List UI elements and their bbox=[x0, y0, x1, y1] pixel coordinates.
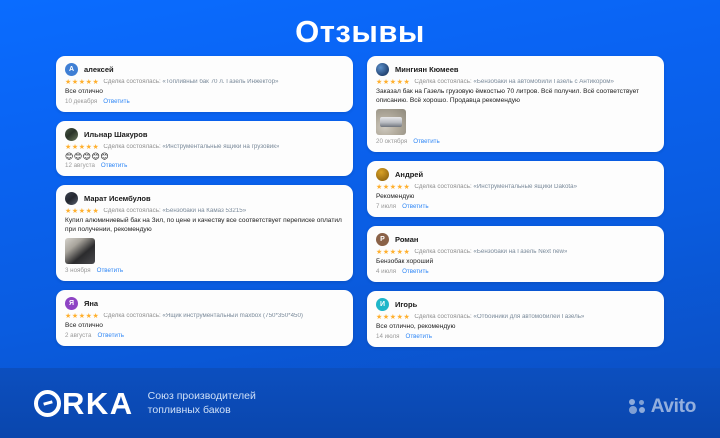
review-author[interactable]: Марат Исембулов bbox=[84, 195, 151, 203]
deal-item[interactable]: «Инструментальные ящики Dakota» bbox=[473, 184, 577, 190]
emoji-reactions: 😊😊😊😊😊 bbox=[65, 153, 344, 161]
review-header: ЯЯна bbox=[65, 297, 344, 310]
reply-link[interactable]: Ответить bbox=[101, 163, 127, 169]
brand-tagline: Союз производителей топливных баков bbox=[148, 389, 256, 417]
review-footer: 3 ноябряОтветить bbox=[65, 268, 344, 274]
review-author[interactable]: алексей bbox=[84, 66, 114, 74]
review-text: Купил алюминиевый бак на Зил, по цене и … bbox=[65, 217, 344, 235]
reply-link[interactable]: Ответить bbox=[103, 99, 129, 105]
deal-prefix: Сделка состоялась: bbox=[414, 184, 471, 190]
deal-line: Сделка состоялась: «Ящик инструментальны… bbox=[103, 313, 303, 320]
rating-stars: ★★★★★ bbox=[65, 144, 99, 151]
review-meta: ★★★★★Сделка состоялась: «Бензобаки на Ка… bbox=[65, 208, 344, 215]
review-footer: 14 июляОтветить bbox=[376, 334, 655, 340]
review-author[interactable]: Ильнар Шакуров bbox=[84, 131, 147, 139]
avatar[interactable]: Я bbox=[65, 297, 78, 310]
review-date: 7 июля bbox=[376, 204, 396, 210]
orka-logo-text: RKA bbox=[62, 388, 134, 419]
reply-link[interactable]: Ответить bbox=[97, 333, 123, 339]
review-author[interactable]: Андрей bbox=[395, 171, 423, 179]
review-footer: 7 июляОтветить bbox=[376, 204, 655, 210]
review-date: 3 ноября bbox=[65, 268, 91, 274]
deal-line: Сделка состоялась: «Бензобаки на Камаз 5… bbox=[103, 208, 246, 215]
avatar[interactable] bbox=[65, 192, 78, 205]
rating-stars: ★★★★★ bbox=[65, 208, 99, 215]
deal-prefix: Сделка состоялась: bbox=[103, 79, 160, 85]
review-footer: 4 июляОтветить bbox=[376, 269, 655, 275]
deal-prefix: Сделка состоялась: bbox=[103, 208, 160, 214]
review-date: 20 октября bbox=[376, 139, 407, 145]
deal-prefix: Сделка состоялась: bbox=[414, 314, 471, 320]
brand-lockup: RKA Союз производителей топливных баков bbox=[0, 388, 256, 419]
review-card: Андрей★★★★★Сделка состоялась: «Инструмен… bbox=[367, 161, 664, 217]
deal-prefix: Сделка состоялась: bbox=[414, 249, 471, 255]
rating-stars: ★★★★★ bbox=[376, 79, 410, 86]
deal-prefix: Сделка состоялась: bbox=[103, 144, 160, 150]
deal-item[interactable]: «Бензобаки на Камаз 53215» bbox=[162, 208, 246, 214]
review-photo-thumbnail[interactable] bbox=[376, 109, 406, 135]
review-text: Бензобак хороший bbox=[376, 258, 655, 267]
deal-line: Сделка состоялась: «Инструментальные ящи… bbox=[103, 144, 279, 151]
review-text: Все отлично, рекомендую bbox=[376, 323, 655, 332]
deal-line: Сделка состоялась: «Бензобаки на Газель … bbox=[414, 249, 567, 256]
reply-link[interactable]: Ответить bbox=[413, 139, 439, 145]
review-author[interactable]: Яна bbox=[84, 300, 98, 308]
brand-tagline-line2: топливных баков bbox=[148, 403, 256, 417]
deal-item[interactable]: «Отбойники для автомобилей Газель» bbox=[473, 314, 584, 320]
reply-link[interactable]: Ответить bbox=[402, 269, 428, 275]
review-date: 4 июля bbox=[376, 269, 396, 275]
orka-o-icon bbox=[34, 390, 61, 417]
avatar[interactable] bbox=[65, 128, 78, 141]
deal-line: Сделка состоялась: «Отбойники для автомо… bbox=[414, 314, 584, 321]
avatar[interactable] bbox=[376, 63, 389, 76]
review-date: 12 августа bbox=[65, 163, 95, 169]
review-meta: ★★★★★Сделка состоялась: «Инструментальны… bbox=[65, 144, 344, 151]
reviews-poster: Отзывы Aалексей★★★★★Сделка состоялась: «… bbox=[0, 0, 720, 438]
review-text: Все отлично bbox=[65, 322, 344, 331]
review-meta: ★★★★★Сделка состоялась: «Ящик инструмент… bbox=[65, 313, 344, 320]
review-photo-thumbnail[interactable] bbox=[65, 238, 95, 264]
deal-line: Сделка состоялась: «Инструментальные ящи… bbox=[414, 184, 577, 191]
review-header: Мингиян Кюмеев bbox=[376, 63, 655, 76]
review-card: Марат Исембулов★★★★★Сделка состоялась: «… bbox=[56, 185, 353, 281]
deal-item[interactable]: «Бензобаки на автомобили Газель с Антико… bbox=[473, 79, 614, 85]
avatar[interactable]: Р bbox=[376, 233, 389, 246]
review-text: Рекомендую bbox=[376, 193, 655, 202]
review-footer: 12 августаОтветить bbox=[65, 163, 344, 169]
review-author[interactable]: Мингиян Кюмеев bbox=[395, 66, 459, 74]
review-author[interactable]: Роман bbox=[395, 236, 418, 244]
reply-link[interactable]: Ответить bbox=[406, 334, 432, 340]
brand-tagline-line1: Союз производителей bbox=[148, 389, 256, 403]
rating-stars: ★★★★★ bbox=[376, 184, 410, 191]
review-meta: ★★★★★Сделка состоялась: «Инструментальны… bbox=[376, 184, 655, 191]
avatar[interactable]: A bbox=[65, 63, 78, 76]
review-header: Ильнар Шакуров bbox=[65, 128, 344, 141]
review-card: РРоман★★★★★Сделка состоялась: «Бензобаки… bbox=[367, 226, 664, 282]
orka-logo: RKA bbox=[34, 388, 134, 419]
review-card: Ильнар Шакуров★★★★★Сделка состоялась: «И… bbox=[56, 121, 353, 176]
review-header: РРоман bbox=[376, 233, 655, 246]
rating-stars: ★★★★★ bbox=[65, 79, 99, 86]
review-author[interactable]: Игорь bbox=[395, 301, 417, 309]
review-card: ИИгорь★★★★★Сделка состоялась: «Отбойники… bbox=[367, 291, 664, 347]
reviews-column-right: Мингиян Кюмеев★★★★★Сделка состоялась: «Б… bbox=[367, 56, 664, 366]
rating-stars: ★★★★★ bbox=[65, 313, 99, 320]
avatar[interactable] bbox=[376, 168, 389, 181]
deal-line: Сделка состоялась: «Бензобаки на автомоб… bbox=[414, 79, 614, 86]
rating-stars: ★★★★★ bbox=[376, 314, 410, 321]
brand-footer: RKA Союз производителей топливных баков … bbox=[0, 368, 720, 438]
avito-wordmark: Avito bbox=[651, 397, 696, 416]
reviews-column-left: Aалексей★★★★★Сделка состоялась: «Топливн… bbox=[56, 56, 353, 366]
review-meta: ★★★★★Сделка состоялась: «Бензобаки на Га… bbox=[376, 249, 655, 256]
review-header: Марат Исембулов bbox=[65, 192, 344, 205]
deal-item[interactable]: «Инструментальные ящики на грузовик» bbox=[162, 144, 279, 150]
review-header: ИИгорь bbox=[376, 298, 655, 311]
review-card: ЯЯна★★★★★Сделка состоялась: «Ящик инстру… bbox=[56, 290, 353, 346]
review-date: 10 декабря bbox=[65, 99, 97, 105]
deal-line: Сделка состоялась: «Топливный бак 70 л. … bbox=[103, 79, 278, 86]
review-header: Aалексей bbox=[65, 63, 344, 76]
deal-item[interactable]: «Бензобаки на Газель Next new» bbox=[473, 249, 567, 255]
avito-dots-icon bbox=[629, 399, 646, 414]
review-card: Мингиян Кюмеев★★★★★Сделка состоялась: «Б… bbox=[367, 56, 664, 152]
review-text: Заказал бак на Газель грузовую ёмкостью … bbox=[376, 88, 655, 106]
deal-prefix: Сделка состоялась: bbox=[103, 313, 160, 319]
reviews-board: Aалексей★★★★★Сделка состоялась: «Топливн… bbox=[0, 56, 720, 366]
review-date: 2 августа bbox=[65, 333, 91, 339]
review-meta: ★★★★★Сделка состоялась: «Топливный бак 7… bbox=[65, 79, 344, 86]
review-card: Aалексей★★★★★Сделка состоялась: «Топливн… bbox=[56, 56, 353, 112]
review-date: 14 июля bbox=[376, 334, 400, 340]
review-footer: 10 декабряОтветить bbox=[65, 99, 344, 105]
review-footer: 2 августаОтветить bbox=[65, 333, 344, 339]
review-meta: ★★★★★Сделка состоялась: «Бензобаки на ав… bbox=[376, 79, 655, 86]
poster-header: Отзывы bbox=[0, 0, 720, 56]
deal-item[interactable]: «Топливный бак 70 л. Газель Инжектор» bbox=[162, 79, 278, 85]
deal-prefix: Сделка состоялась: bbox=[414, 79, 471, 85]
avito-watermark: Avito bbox=[629, 397, 696, 416]
review-header: Андрей bbox=[376, 168, 655, 181]
reply-link[interactable]: Ответить bbox=[97, 268, 123, 274]
reply-link[interactable]: Ответить bbox=[402, 204, 428, 210]
avatar[interactable]: И bbox=[376, 298, 389, 311]
deal-item[interactable]: «Ящик инструментальный maxbox (750*350*4… bbox=[162, 313, 303, 319]
page-title: Отзывы bbox=[295, 16, 425, 47]
rating-stars: ★★★★★ bbox=[376, 249, 410, 256]
review-footer: 20 октябряОтветить bbox=[376, 139, 655, 145]
review-meta: ★★★★★Сделка состоялась: «Отбойники для а… bbox=[376, 314, 655, 321]
review-text: Все отлично bbox=[65, 88, 344, 97]
